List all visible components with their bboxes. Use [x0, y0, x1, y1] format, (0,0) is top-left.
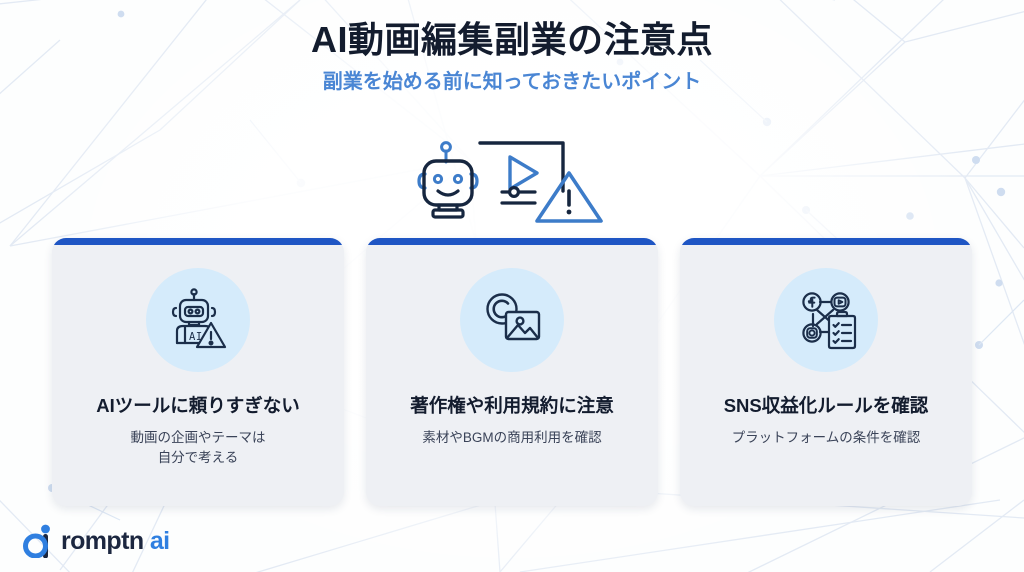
brand-logo[interactable]: romptn ai	[20, 524, 170, 558]
clipboard-checklist-icon	[829, 312, 855, 348]
brand-suffix: ai	[144, 527, 170, 555]
robot-ai-warning-icon: AI	[165, 287, 231, 353]
warning-triangle-icon	[537, 173, 601, 221]
card-title: 著作権や利用規約に注意	[410, 394, 614, 417]
hero-illustration	[0, 129, 1024, 229]
romptn-a-mark-icon	[20, 524, 52, 558]
card-accent-bar	[680, 238, 972, 245]
card-title: SNS収益化ルールを確認	[724, 394, 929, 417]
slider-control-icon	[502, 188, 535, 203]
card-description-line-2: 自分で考える	[158, 450, 239, 465]
card-accent-bar	[52, 238, 344, 245]
card-accent-bar	[366, 238, 658, 245]
card-description-line-1: 動画の企画やテーマは	[131, 430, 266, 445]
page-subtitle: 副業を始める前に知っておきたいポイント	[0, 70, 1024, 94]
card-description: プラットフォームの条件を確認	[720, 428, 933, 448]
card-description: 素材やBGMの商用利用を確認	[410, 428, 613, 448]
card-icon-circle	[774, 268, 878, 372]
robot-video-warning-illustration	[417, 129, 607, 229]
feature-card-copyright[interactable]: 著作権や利用規約に注意 素材やBGMの商用利用を確認	[366, 238, 658, 506]
brand-name: romptn	[61, 527, 144, 555]
card-icon-circle	[460, 268, 564, 372]
feature-card-list: AI AIツールに頼りすぎない 動画の企画やテーマは 自分で考える	[52, 238, 972, 506]
page-title: AI動画編集副業の注意点	[0, 18, 1024, 62]
card-description: 動画の企画やテーマは 自分で考える	[119, 428, 278, 469]
card-title: AIツールに頼りすぎない	[96, 394, 300, 417]
feature-card-ai-tools[interactable]: AI AIツールに頼りすぎない 動画の企画やテーマは 自分で考える	[52, 238, 344, 506]
brand-logo-text: romptn ai	[61, 529, 170, 554]
social-network-checklist-icon	[793, 288, 859, 352]
youtube-icon	[831, 293, 848, 310]
slide-root: AI動画編集副業の注意点 副業を始める前に知っておきたいポイント	[0, 0, 1024, 572]
robot-head-icon	[419, 143, 477, 217]
card-icon-circle: AI	[146, 268, 250, 372]
facebook-icon	[803, 293, 820, 310]
instagram-icon	[803, 324, 820, 341]
feature-card-sns-monetization[interactable]: SNS収益化ルールを確認 プラットフォームの条件を確認	[680, 238, 972, 506]
header: AI動画編集副業の注意点 副業を始める前に知っておきたいポイント	[0, 18, 1024, 94]
play-button-icon	[510, 157, 537, 189]
copyright-image-icon	[480, 288, 544, 352]
